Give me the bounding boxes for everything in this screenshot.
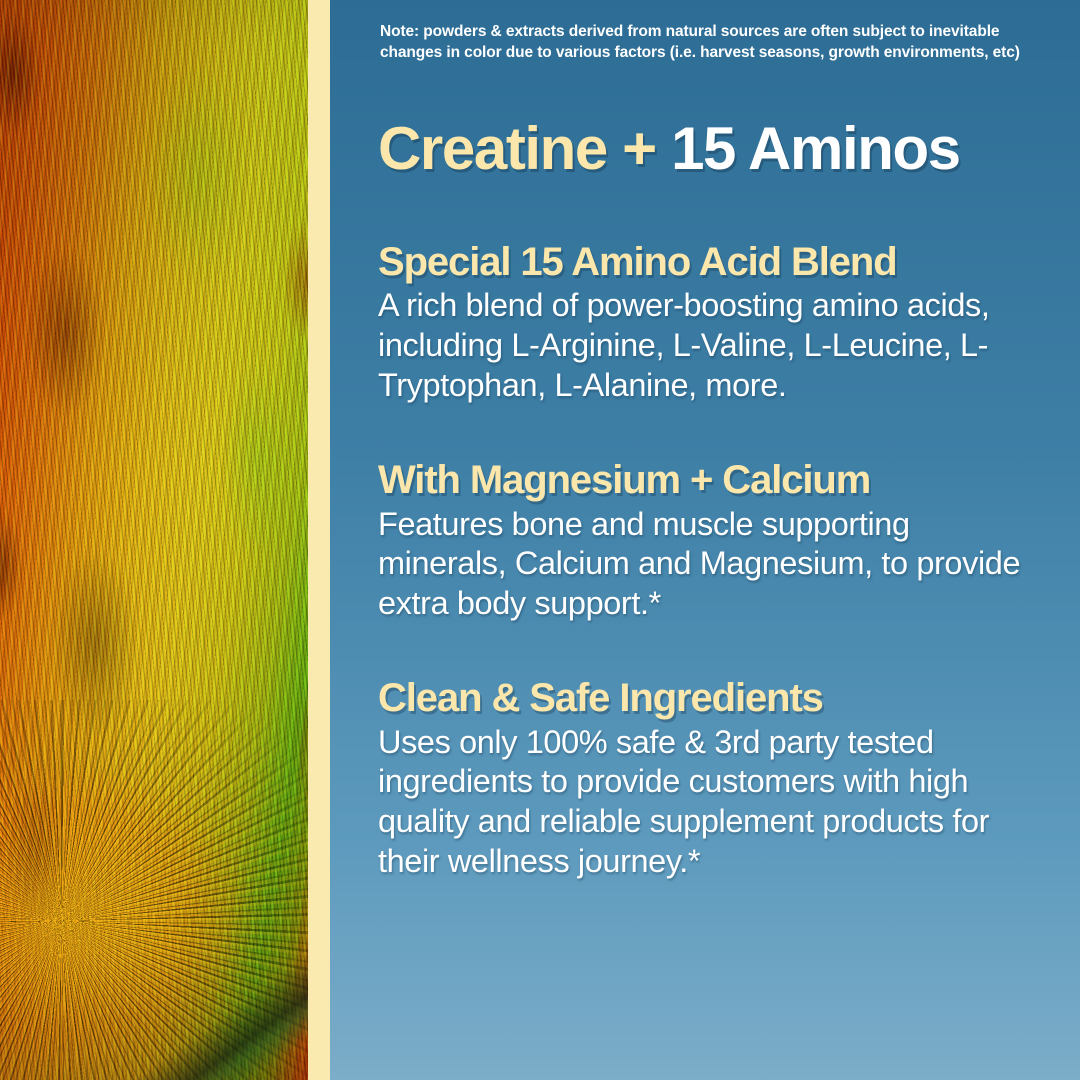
product-feature-graphic: Note: powders & extracts derived from na…: [0, 0, 1080, 1080]
page-title: Creatine + 15 Aminos: [378, 119, 1054, 179]
feature-block-1: Special 15 Amino Acid Blend A rich blend…: [378, 241, 1054, 405]
feature-block-3: Clean & Safe Ingredients Uses only 100% …: [378, 677, 1054, 881]
feature-body-2: Features bone and muscle supporting mine…: [378, 505, 1038, 624]
feature-block-2: With Magnesium + Calcium Features bone a…: [378, 459, 1054, 623]
feature-heading-3: Clean & Safe Ingredients: [378, 677, 1054, 720]
product-macro-photo: [0, 0, 308, 1080]
disclaimer-note: Note: powders & extracts derived from na…: [380, 22, 1054, 63]
cream-divider: [308, 0, 330, 1080]
photo-vignette: [0, 0, 308, 1080]
feature-heading-1: Special 15 Amino Acid Blend: [378, 241, 1054, 284]
feature-body-3: Uses only 100% safe & 3rd party tested i…: [378, 723, 1038, 882]
content-panel: Note: powders & extracts derived from na…: [330, 0, 1080, 1080]
feature-heading-2: With Magnesium + Calcium: [378, 459, 1054, 502]
page-title-rest: 15 Aminos: [671, 115, 960, 182]
feature-body-1: A rich blend of power-boosting amino aci…: [378, 286, 1038, 405]
page-title-highlight: Creatine +: [378, 115, 671, 182]
